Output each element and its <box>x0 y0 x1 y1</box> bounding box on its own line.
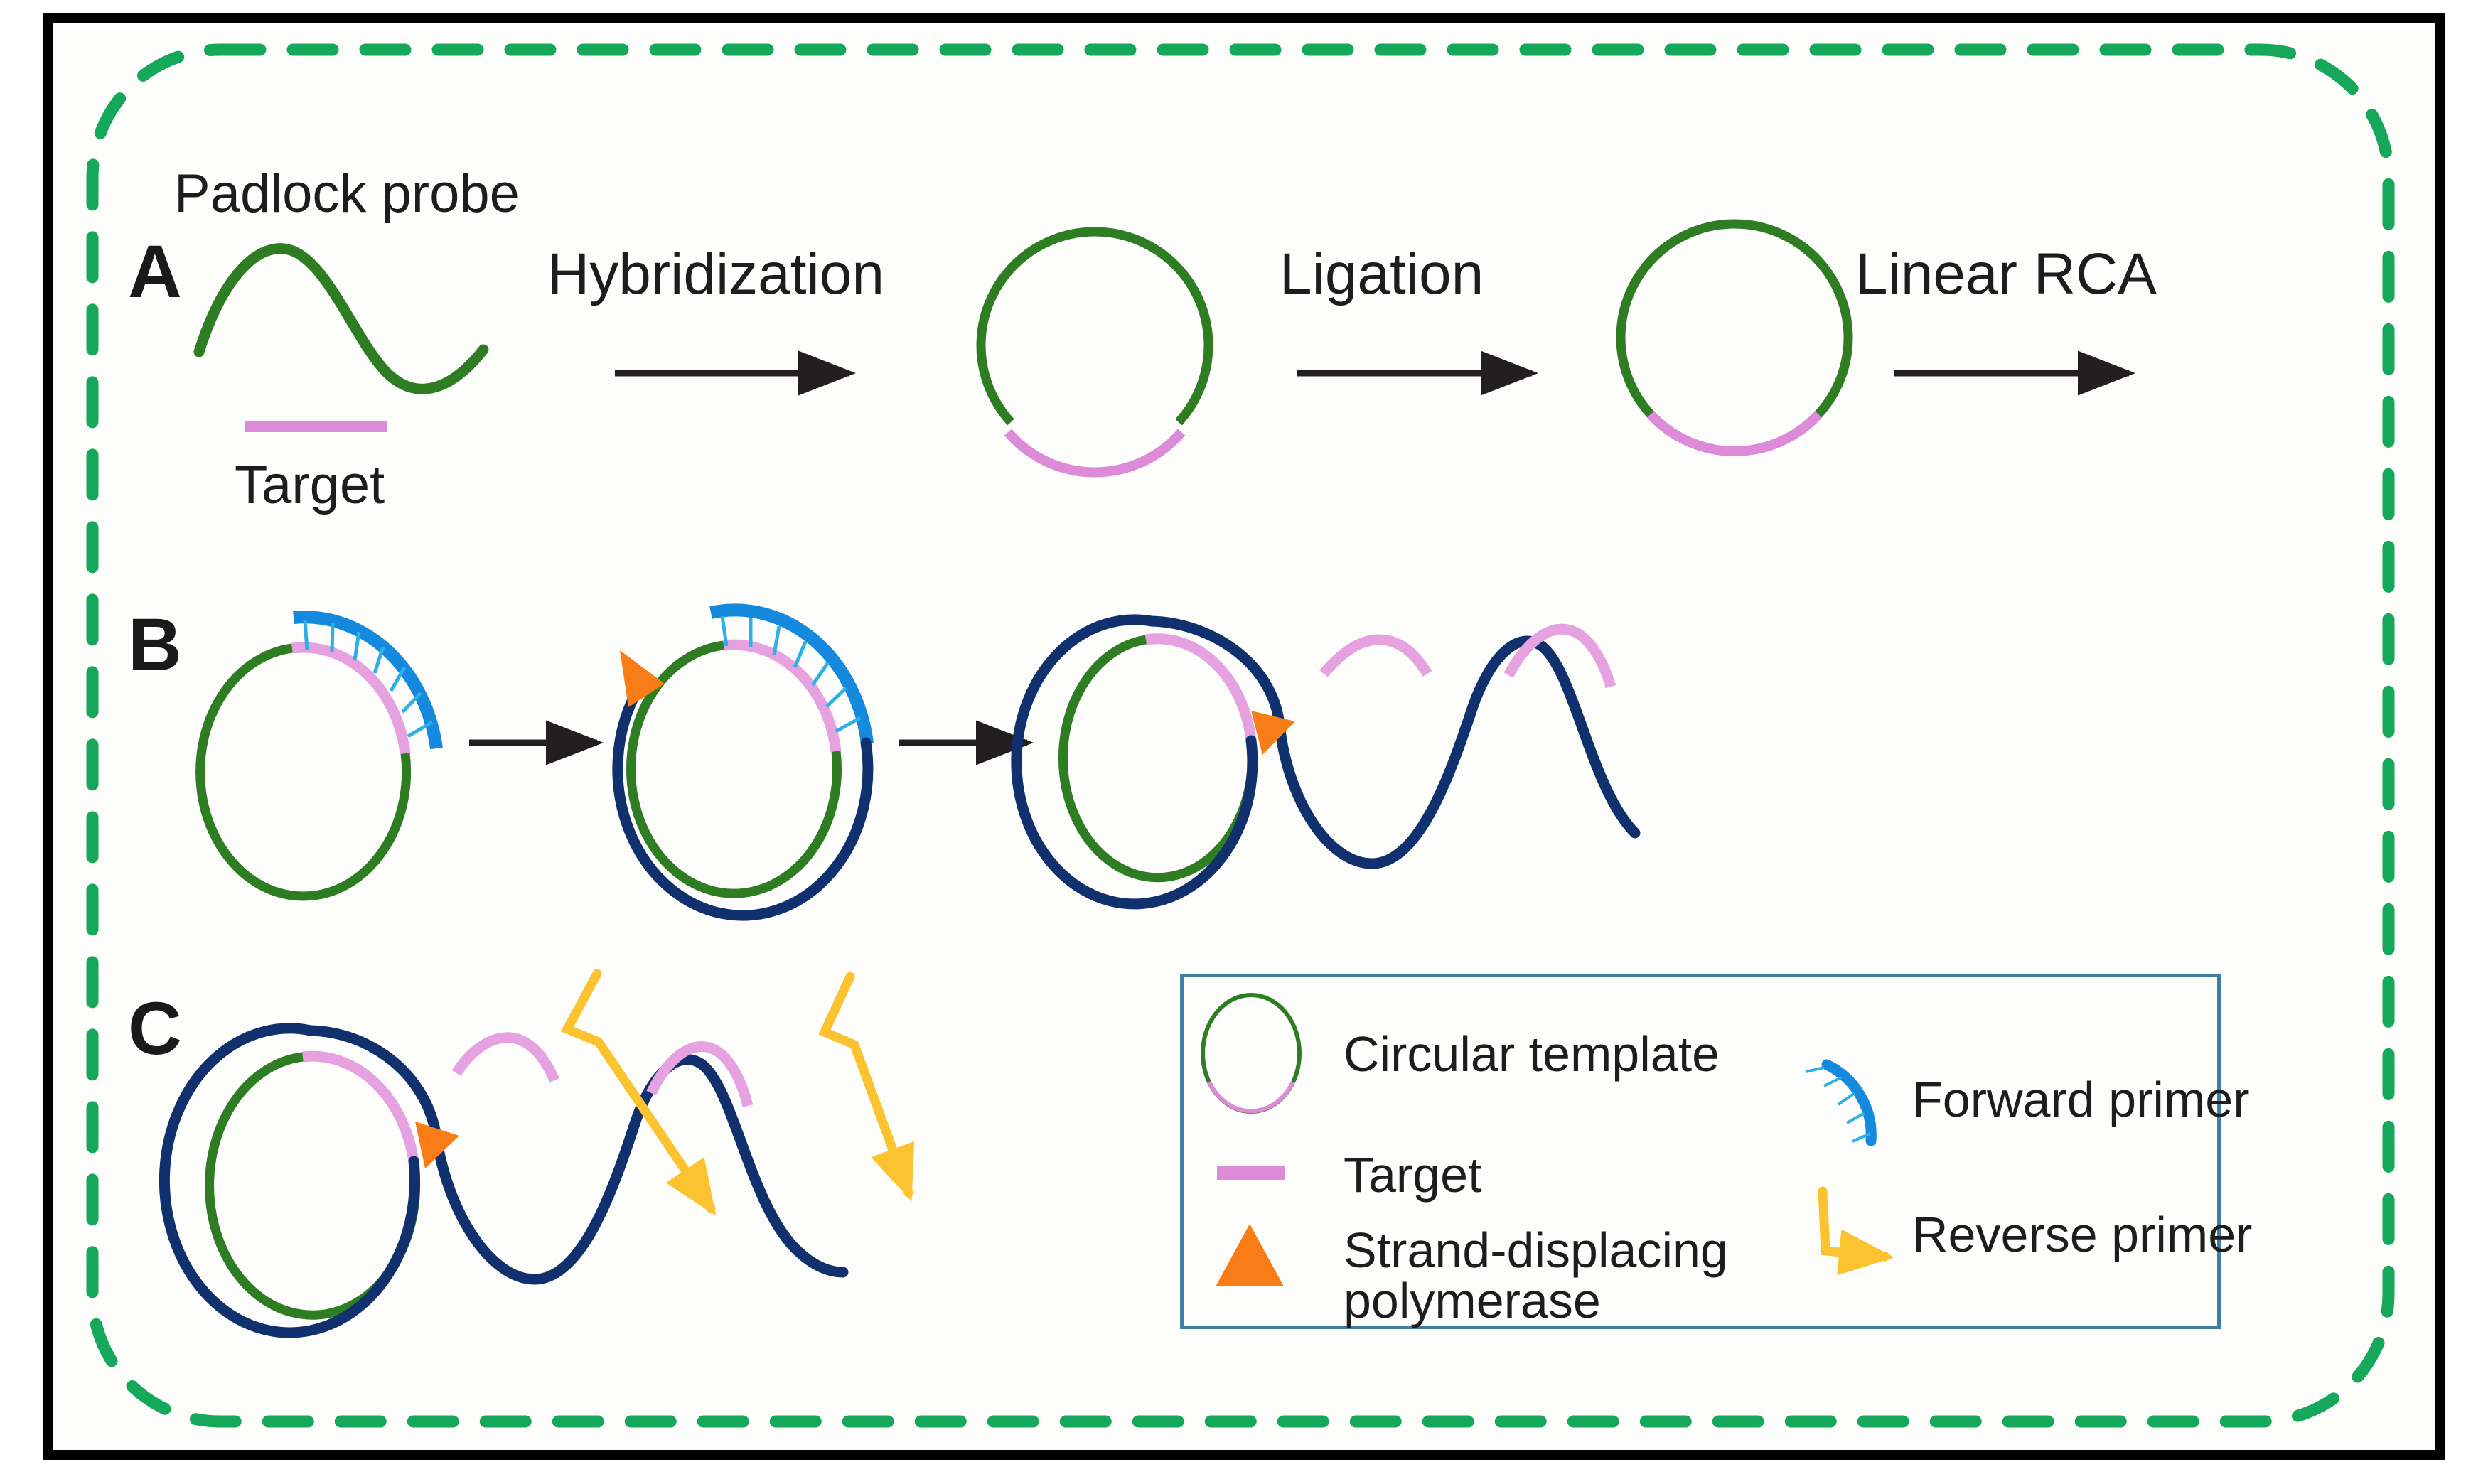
panel-letter-b: B <box>128 608 182 682</box>
panel-letter-a: A <box>128 235 182 309</box>
panel-letter-c: C <box>128 991 182 1066</box>
legend-label-forward-primer: Forward primer <box>1912 1075 2250 1125</box>
legend-label-circular-template: Circular template <box>1344 1029 1720 1080</box>
target-label-panel-a: Target <box>235 458 385 512</box>
figure-root: A Padlock probe Target Hybridization Lig… <box>0 0 2488 1484</box>
step-label-hybridization: Hybridization <box>547 245 884 303</box>
legend-polymerase-line2: polymerase <box>1344 1273 1601 1328</box>
legend-label-target: Target <box>1344 1150 1482 1200</box>
step-label-ligation: Ligation <box>1280 245 1484 303</box>
step-label-linear-rca: Linear RCA <box>1855 245 2157 303</box>
legend-polymerase-line1: Strand-displacing <box>1344 1222 1728 1278</box>
legend-label-reverse-primer: Reverse primer <box>1912 1210 2252 1260</box>
padlock-probe-label: Padlock probe <box>174 167 520 221</box>
legend-label-strand-displacing-polymerase: Strand-displacing polymerase <box>1344 1225 1784 1327</box>
